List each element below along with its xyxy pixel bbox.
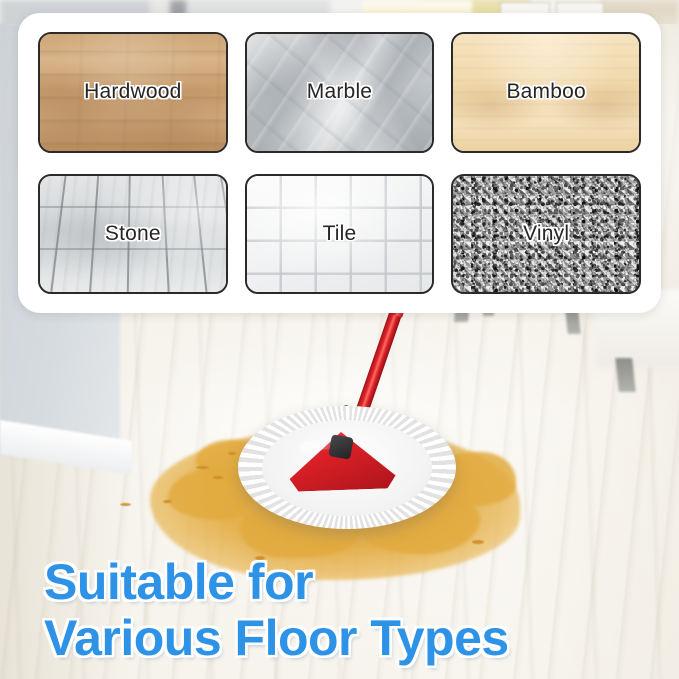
headline-line-2: Various Floor Types [44, 612, 644, 664]
floor-types-grid: Hardwood Marble Bamboo [38, 32, 641, 294]
floor-swatch-marble[interactable]: Marble [245, 32, 435, 153]
headline: Suitable for Various Floor Types [44, 556, 644, 664]
spill-droplet [196, 466, 209, 469]
spill-droplet [163, 500, 172, 503]
floor-swatch-label: Bamboo [506, 80, 585, 104]
spill-droplet [213, 476, 223, 479]
stone-grout-horizontal [40, 206, 226, 208]
floor-swatch-hardwood[interactable]: Hardwood [38, 32, 228, 153]
mop-swivel-joint [328, 434, 353, 459]
floor-swatch-label: Hardwood [84, 80, 181, 104]
floor-swatch-label: Tile [323, 222, 357, 246]
spill-droplet [228, 452, 236, 455]
floor-swatch-label: Marble [307, 80, 372, 104]
floor-swatch-label: Stone [105, 222, 161, 246]
spill-droplet [472, 540, 484, 544]
floor-swatch-vinyl[interactable]: Vinyl [451, 174, 641, 295]
furniture-leg [615, 358, 636, 392]
floor-swatch-stone[interactable]: Stone [38, 174, 228, 295]
spill-droplet [120, 503, 131, 506]
headline-line-1: Suitable for [44, 556, 644, 608]
floor-types-card: Hardwood Marble Bamboo [18, 13, 661, 313]
stone-grout-horizontal [40, 248, 226, 250]
floor-swatch-label: Vinyl [523, 222, 569, 246]
product-feature-image: Hardwood Marble Bamboo [0, 0, 679, 679]
floor-swatch-tile[interactable]: Tile [245, 174, 435, 295]
floor-swatch-bamboo[interactable]: Bamboo [451, 32, 641, 153]
